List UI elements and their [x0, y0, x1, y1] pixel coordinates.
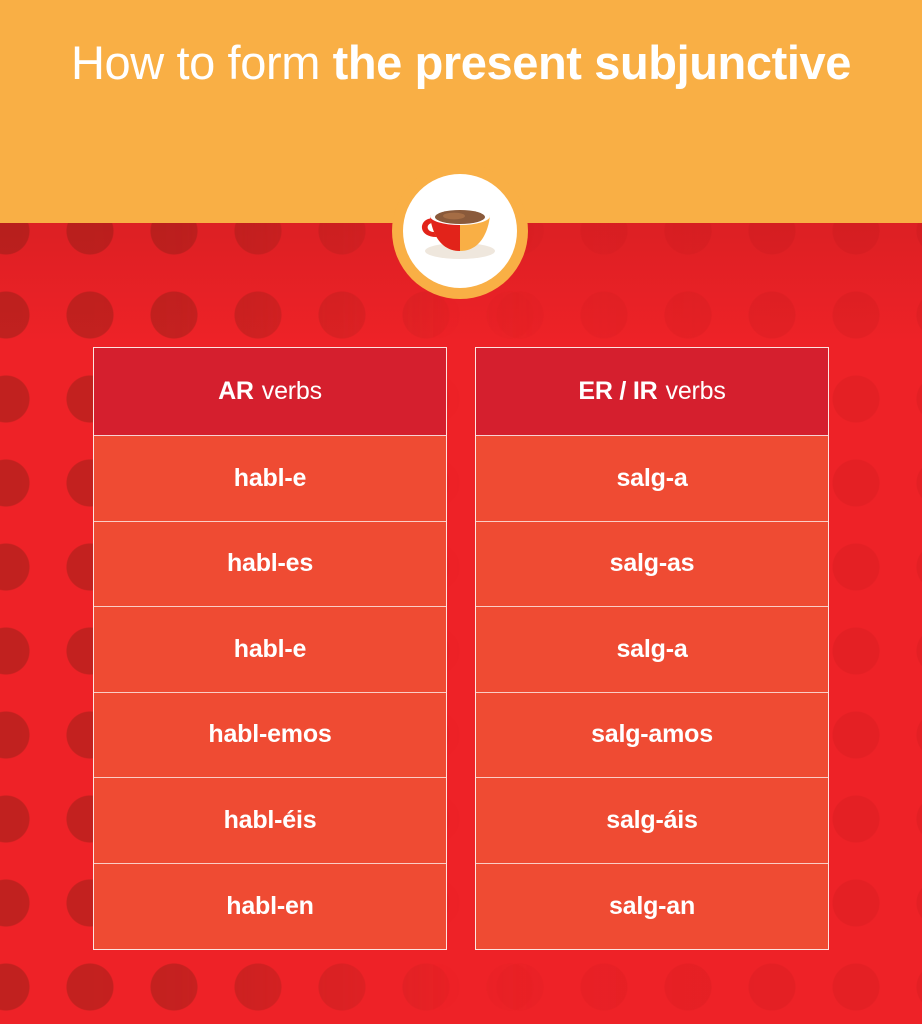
table-row: salg-amos — [476, 693, 828, 779]
page-title-bold: the present subjunctive — [333, 36, 851, 89]
table-row: salg-áis — [476, 778, 828, 864]
page-title-light: How to form — [71, 36, 333, 89]
table-er-ir-verbs-header-bold: ER / IR — [578, 377, 657, 406]
table-row: habl-emos — [94, 693, 446, 779]
page-title: How to form the present subjunctive — [60, 36, 862, 89]
table-row: salg-a — [476, 436, 828, 522]
brand-logo — [392, 163, 528, 299]
table-ar-verbs-header-light: verbs — [262, 377, 322, 406]
table-row: habl-e — [94, 436, 446, 522]
table-row: habl-es — [94, 522, 446, 608]
table-row: habl-éis — [94, 778, 446, 864]
table-er-ir-verbs-header-light: verbs — [666, 377, 726, 406]
coffee-cup-icon — [403, 174, 517, 288]
table-ar-verbs-header-bold: AR — [218, 377, 254, 406]
table-row: salg-a — [476, 607, 828, 693]
table-er-ir-verbs-header: ER / IRverbs — [476, 348, 828, 436]
table-er-ir-verbs: ER / IRverbs salg-a salg-as salg-a salg-… — [475, 347, 829, 950]
infographic-page: How to form the present subjunctive ARve… — [0, 0, 922, 1024]
conjugation-tables: ARverbs habl-e habl-es habl-e habl-emos … — [93, 347, 829, 950]
table-row: habl-e — [94, 607, 446, 693]
table-row: habl-en — [94, 864, 446, 950]
table-ar-verbs: ARverbs habl-e habl-es habl-e habl-emos … — [93, 347, 447, 950]
table-ar-verbs-header: ARverbs — [94, 348, 446, 436]
table-row: salg-as — [476, 522, 828, 608]
table-row: salg-an — [476, 864, 828, 950]
